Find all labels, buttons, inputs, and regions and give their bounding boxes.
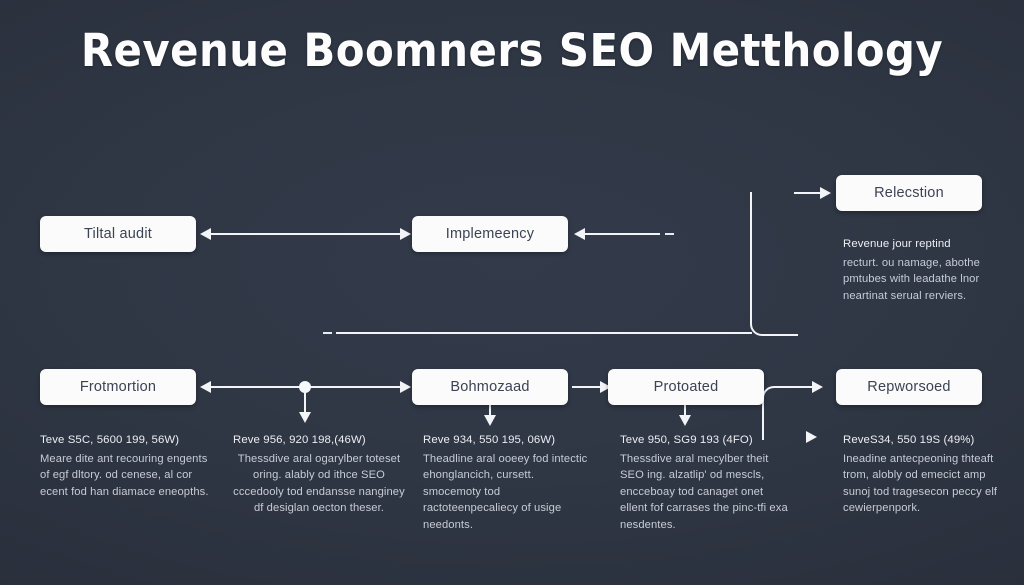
caption-bohmozaad-head: Reve 934, 550 195, 06W) bbox=[423, 432, 595, 449]
arrow-right-row2 bbox=[400, 381, 411, 393]
connector-row1-main bbox=[210, 233, 402, 235]
caption-bohmozaad-left-body: Thessdive aral ogarylber toteset oring. … bbox=[233, 451, 405, 517]
arrow-down-bohmozaad bbox=[484, 415, 496, 426]
caption-frotmortion-head: Teve S5C, 5600 199, 56W) bbox=[40, 432, 212, 449]
caption-bohmozaad-left: Reve 956, 920 198,(46W) Thessdive aral o… bbox=[233, 432, 405, 517]
arrow-into-caption-repworsoed bbox=[806, 431, 817, 443]
arrow-down-protoated bbox=[679, 415, 691, 426]
diagram-canvas: Revenue Boomners SEO Metthology Tiltal a… bbox=[0, 0, 1024, 585]
connector-dash-lower bbox=[323, 332, 332, 334]
caption-bohmozaad-left-head: Reve 956, 920 198,(46W) bbox=[233, 432, 405, 449]
caption-frotmortion: Teve S5C, 5600 199, 56W) Meare dite ant … bbox=[40, 432, 212, 500]
node-frotmortion[interactable]: Frotmortion bbox=[40, 369, 196, 405]
connector-row1-lower bbox=[336, 332, 752, 334]
caption-bohmozaad: Reve 934, 550 195, 06W) Theadline aral o… bbox=[423, 432, 595, 533]
arrow-down-junction bbox=[299, 412, 311, 423]
caption-protoated-body: Thessdive aral mecylber theit SEO ing. a… bbox=[620, 451, 792, 534]
caption-protoated-head: Teve 950, SG9 193 (4FO) bbox=[620, 432, 792, 449]
node-repworsoed[interactable]: Repworsoed bbox=[836, 369, 982, 405]
caption-frotmortion-body: Meare dite ant recouring engents of egf … bbox=[40, 451, 212, 501]
caption-relecstion-head: Revenue jour reptind bbox=[843, 236, 1003, 253]
connector-dot-down bbox=[304, 390, 306, 414]
node-tiltal-audit[interactable]: Tiltal audit bbox=[40, 216, 196, 252]
page-title: Revenue Boomners SEO Metthology bbox=[36, 24, 988, 77]
node-protoated[interactable]: Protoated bbox=[608, 369, 764, 405]
node-implemeency[interactable]: Implemeency bbox=[412, 216, 568, 252]
connector-relecstion-stub bbox=[794, 192, 822, 194]
caption-bohmozaad-body: Theadline aral ooeey fod intectic ehongl… bbox=[423, 451, 595, 534]
arrow-right-row1 bbox=[400, 228, 411, 240]
caption-repworsoed-body: Ineadine antecpeoning thteaft trom, alob… bbox=[843, 451, 1005, 517]
node-relecstion[interactable]: Relecstion bbox=[836, 175, 982, 211]
node-bohmozaad[interactable]: Bohmozaad bbox=[412, 369, 568, 405]
connector-dash-row1 bbox=[665, 233, 674, 235]
connector-elbow-relecstion bbox=[750, 192, 798, 336]
caption-repworsoed: ReveS34, 550 19S (49%) Ineadine antecpeo… bbox=[843, 432, 1005, 517]
caption-protoated: Teve 950, SG9 193 (4FO) Thessdive aral m… bbox=[620, 432, 792, 533]
connector-implemeency-right bbox=[584, 233, 660, 235]
caption-relecstion: Revenue jour reptind recturt. ou namage,… bbox=[843, 236, 1003, 304]
caption-relecstion-body: recturt. ou namage, abothe pmtubes with … bbox=[843, 255, 1003, 305]
caption-repworsoed-head: ReveS34, 550 19S (49%) bbox=[843, 432, 1005, 449]
arrow-into-repworsoed bbox=[812, 381, 823, 393]
